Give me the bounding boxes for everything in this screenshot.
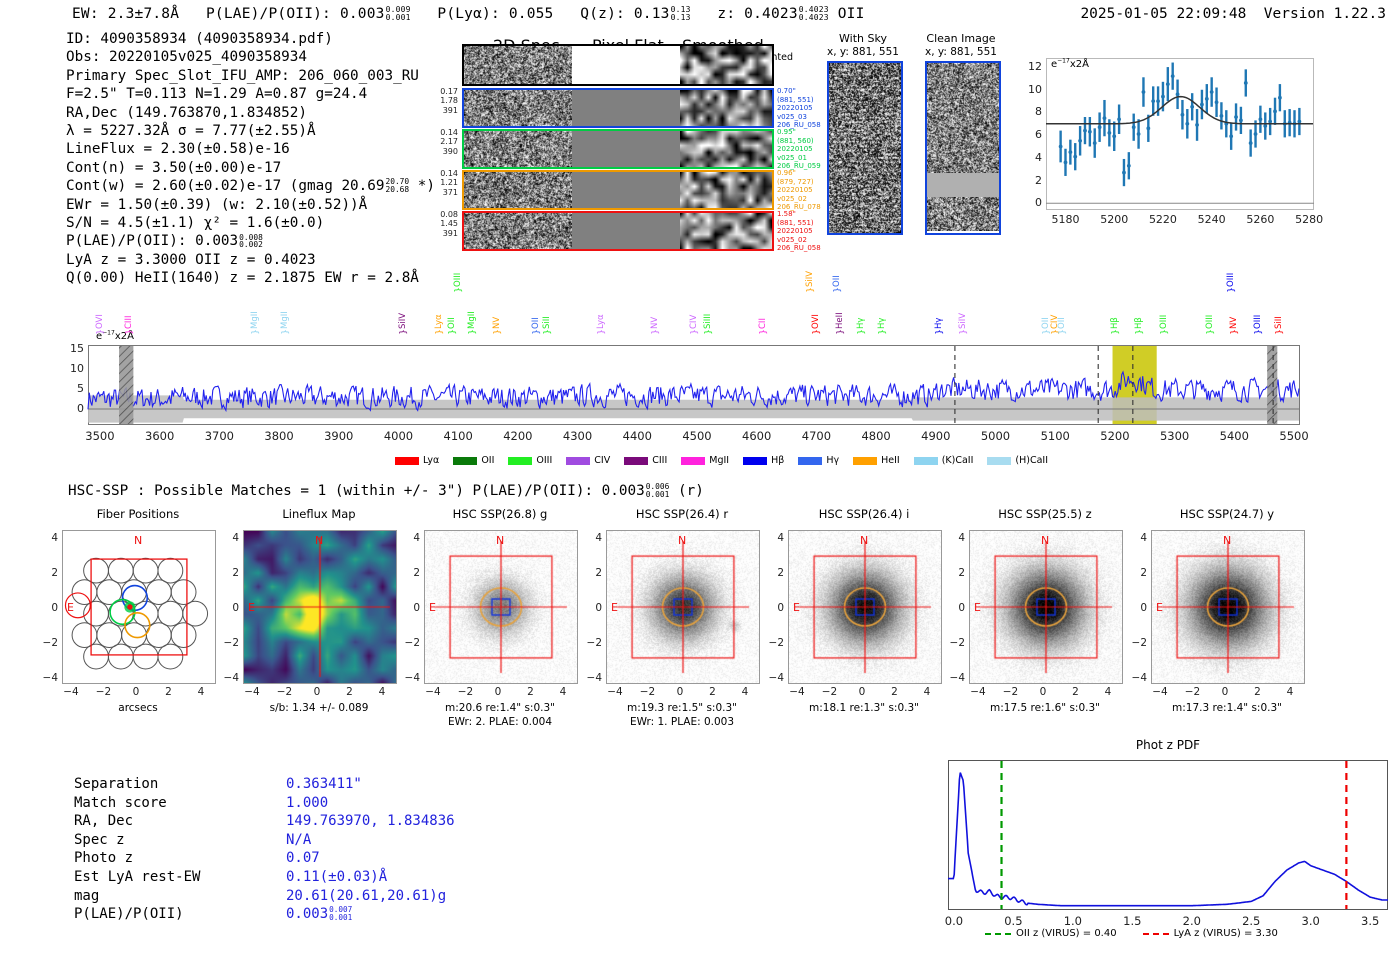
hsc-cutout-image — [425, 531, 577, 683]
full-spectrum-xtick: 3700 — [193, 429, 245, 443]
emission-line-brace: } — [1206, 329, 1216, 335]
full-spectrum-xtick: 5200 — [1089, 429, 1141, 443]
cutout-xtick: 0 — [123, 686, 149, 698]
pixelflat-image — [572, 90, 680, 126]
photz-xtick: 1.5 — [1112, 914, 1152, 928]
cutout-ytick: 2 — [584, 567, 602, 579]
match-table-key: Separation — [74, 775, 286, 794]
spec2d-row — [462, 170, 774, 210]
full-spectrum-frame — [88, 345, 1300, 425]
spec2d-left-value: 1.78 — [416, 96, 458, 105]
photz-legend: OII z (VIRUS) = 0.40LyA z (VIRUS) = 3.30 — [985, 928, 1278, 939]
cutout-ytick: 0 — [221, 602, 239, 614]
pixelflat-image — [572, 172, 680, 208]
cutout-caption-secondary: EWr: 2. PLAE: 0.004 — [412, 716, 588, 728]
cutout-ytick: 2 — [766, 567, 784, 579]
cutout-xtick: 4 — [732, 686, 758, 698]
spectrum-legend-item: MgII — [681, 455, 729, 466]
cutout-panel-frame — [1151, 530, 1305, 684]
spec2d-left-value: 1.45 — [416, 219, 458, 228]
emission-line-brace: } — [1160, 329, 1170, 335]
emission-line-brace: } — [651, 329, 661, 335]
spec2d-image — [464, 46, 572, 84]
compass-north-label: N — [860, 534, 868, 547]
cutout-xtick: −2 — [272, 686, 298, 698]
spec2d-left-value: 390 — [416, 147, 458, 156]
legend-swatch — [508, 457, 532, 465]
hscssp-header-text: HSC-SSP : Possible Matches = 1 (within +… — [68, 483, 645, 499]
cutout-ytick: 2 — [947, 567, 965, 579]
fiber-positions-diagram — [63, 531, 215, 683]
compass-east-label: E — [611, 601, 618, 614]
match-table-row: Match score1.000 — [74, 794, 455, 813]
emission-line-brace: } — [454, 287, 464, 293]
info-plae-label: P(LAE)/P(OII): 0.003 — [66, 233, 238, 249]
cutout-xtick: −2 — [635, 686, 661, 698]
cutout-ytick: −2 — [947, 637, 965, 649]
zoom-plot-xtick: 5260 — [1240, 213, 1280, 226]
spec2d-right-value: v025_02 — [777, 236, 837, 245]
cutout-xtick: 2 — [337, 686, 363, 698]
cutout-xtick: −2 — [817, 686, 843, 698]
cutout-caption-primary: m:19.3 re:1.5" s:0.3" — [594, 702, 770, 714]
cutout-xtick: 2 — [700, 686, 726, 698]
compass-north-label: N — [134, 534, 142, 547]
match-table-value: 0.003 — [286, 906, 328, 922]
info-line: Obs: 20220105v025_4090358934 — [66, 48, 435, 66]
spectrum-legend-item: (K)CaII — [914, 455, 974, 466]
cutout-xtick: −2 — [1180, 686, 1206, 698]
cutout-xtick: 0 — [1212, 686, 1238, 698]
header-plae-label: P(LAE)/P(OII): — [206, 6, 331, 22]
clean-image-top — [927, 63, 999, 173]
cutout-panel-frame — [606, 530, 760, 684]
full-spectrum-xtick: 4100 — [432, 429, 484, 443]
cutout-ytick: −2 — [40, 637, 58, 649]
spec2d-left-value: 2.17 — [416, 137, 458, 146]
emission-line-label: Hγ — [877, 287, 887, 329]
header-z: z: 0.4023 — [717, 6, 797, 22]
cutout-caption-primary: m:17.5 re:1.6" s:0.3" — [957, 702, 1133, 714]
legend-label: Hβ — [771, 455, 784, 466]
compass-north-label: N — [1041, 534, 1049, 547]
emission-line-brace: } — [759, 329, 769, 335]
zoom-plot-yunit-annotation: e−17x2Å — [1051, 59, 1089, 70]
emission-line-label: OII — [447, 287, 457, 329]
legend-label: MgII — [709, 455, 729, 466]
info-line: Primary Spec_Slot_IFU_AMP: 206_060_003_R… — [66, 67, 435, 85]
match-table-key: mag — [74, 887, 286, 906]
cutout-ytick: −4 — [221, 672, 239, 684]
compass-east-label: E — [974, 601, 981, 614]
header-plae-lo: 0.001 — [386, 13, 411, 22]
photz-legend-label: OII z (VIRUS) = 0.40 — [1016, 928, 1117, 939]
sky-cutout-image-frame — [925, 61, 1001, 235]
emission-line-label: OIII — [1226, 245, 1236, 287]
cutout-ytick: −4 — [402, 672, 420, 684]
compass-north-label: N — [678, 534, 686, 547]
cutout-xtick: 4 — [369, 686, 395, 698]
cutout-ytick: −4 — [1129, 672, 1147, 684]
legend-swatch — [624, 457, 648, 465]
photz-xtick: 3.0 — [1291, 914, 1331, 928]
emission-line-brace: } — [532, 329, 542, 335]
emission-line-brace: } — [435, 329, 445, 335]
cutout-panel-title: Fiber Positions — [62, 507, 214, 521]
emission-line-brace: } — [1275, 329, 1285, 335]
timestamp-version: 2025-01-05 22:09:48 Version 1.22.3 — [1080, 6, 1386, 22]
cutout-ytick: −2 — [402, 637, 420, 649]
emission-line-brace: } — [399, 329, 409, 335]
spec2d-left-value: 1.21 — [416, 178, 458, 187]
legend-swatch — [987, 457, 1011, 465]
full-spectrum-xtick: 5000 — [970, 429, 1022, 443]
photz-xtick: 1.0 — [1053, 914, 1093, 928]
spec2d-row — [462, 88, 774, 128]
photz-legend-label: LyA z (VIRUS) = 3.30 — [1174, 928, 1278, 939]
legend-swatch — [743, 457, 767, 465]
legend-swatch — [681, 457, 705, 465]
header-qz-lo: 0.13 — [671, 13, 691, 22]
full-spectrum-ytick: 5 — [62, 382, 84, 395]
match-table-row: Est LyA rest-EW0.11(±0.03)Å — [74, 868, 455, 887]
hsc-cutout-image — [607, 531, 759, 683]
cutout-ytick: 4 — [1129, 532, 1147, 544]
info-cont-w-lo: 20.68 — [385, 185, 409, 194]
cutout-ytick: 2 — [40, 567, 58, 579]
legend-label: CIV — [594, 455, 610, 466]
compass-east-label: E — [1156, 601, 1163, 614]
cutout-ytick: −4 — [947, 672, 965, 684]
photz-legend-item: OII z (VIRUS) = 0.40 — [985, 928, 1117, 939]
header-z-species: OII — [838, 6, 865, 22]
info-line: λ = 5227.32Å σ = 7.77(±2.55)Å — [66, 122, 435, 140]
cutout-ytick: 4 — [584, 532, 602, 544]
emission-line-label: SiIII — [703, 287, 713, 329]
photz-legend-item: LyA z (VIRUS) = 3.30 — [1143, 928, 1278, 939]
sky-panel-coords: x, y: 881, 551 — [813, 46, 913, 58]
legend-swatch — [566, 457, 590, 465]
zoom-plot-ytick: 12 — [1024, 60, 1042, 73]
cutout-panel-title: HSC SSP(26.4) r — [606, 507, 758, 521]
legend-label: CIII — [652, 455, 667, 466]
info-snr: S/N = 4.5(±1.1) χ² = 1.6(±0.0) — [66, 214, 435, 232]
clean-image-flat-region — [927, 173, 999, 197]
cutout-ytick: 0 — [584, 602, 602, 614]
cutout-xtick: 0 — [667, 686, 693, 698]
smoothed-image — [680, 46, 772, 84]
spec2d-row-left-labels: 0.171.78391 — [416, 87, 458, 115]
spec2d-weighted-row — [462, 44, 774, 86]
spec2d-image — [464, 172, 572, 208]
match-table-row: P(LAE)/P(OII)0.0030.0070.001 — [74, 905, 455, 924]
full-spectrum-xtick: 4200 — [492, 429, 544, 443]
spec2d-left-value: 391 — [416, 229, 458, 238]
cutout-xtick: 0 — [1030, 686, 1056, 698]
photz-title: Phot z PDF — [948, 738, 1388, 752]
sky-cutout-image-frame — [827, 61, 903, 235]
cutout-panel-title: HSC SSP(26.8) g — [424, 507, 576, 521]
emission-line-brace: } — [690, 329, 700, 335]
emission-line-label: OIII — [1159, 287, 1169, 329]
spec2d-left-value: 0.14 — [416, 128, 458, 137]
info-line: ID: 4090358934 (4090358934.pdf) — [66, 30, 435, 48]
zoom-plot-ytick: 2 — [1024, 174, 1042, 187]
photz-xtick: 3.5 — [1350, 914, 1390, 928]
cutout-ytick: 4 — [40, 532, 58, 544]
cutout-caption-primary: s/b: 1.34 +/- 0.089 — [231, 702, 407, 714]
emission-line-label: NV — [650, 287, 660, 329]
cutout-xtick: −2 — [453, 686, 479, 698]
emission-line-label: OVI — [95, 287, 105, 329]
info-plae: P(LAE)/P(OII): 0.0030.0080.002 — [66, 232, 435, 250]
emission-line-brace: } — [468, 329, 478, 335]
cutout-caption-secondary: EWr: 1. PLAE: 0.003 — [594, 716, 770, 728]
cutout-ytick: 2 — [1129, 567, 1147, 579]
cutout-xtick: −4 — [239, 686, 265, 698]
emission-line-label: CII — [758, 287, 768, 329]
legend-label: Hγ — [826, 455, 839, 466]
emission-line-label: OII — [1057, 287, 1067, 329]
zoom-plot-xtick: 5220 — [1143, 213, 1183, 226]
emission-line-label: SiII — [542, 287, 552, 329]
cutout-xtick: 0 — [485, 686, 511, 698]
cutout-ytick: −4 — [584, 672, 602, 684]
spectrum-legend-item: HeII — [853, 455, 900, 466]
emission-line-brace: } — [493, 329, 503, 335]
photz-xtick: 2.0 — [1172, 914, 1212, 928]
emission-line-label: Lyα — [596, 287, 606, 329]
with-sky-image — [829, 63, 901, 233]
emission-line-brace: } — [1135, 329, 1145, 335]
emission-line-brace: } — [251, 329, 261, 335]
spec2d-left-value: 0.14 — [416, 169, 458, 178]
full-spectrum-xtick: 4300 — [552, 429, 604, 443]
emission-line-label: SiIV — [398, 287, 408, 329]
emission-line-label: Hγ — [856, 287, 866, 329]
spec2d-row-left-labels: 0.081.45391 — [416, 210, 458, 238]
cutout-ytick: −2 — [221, 637, 239, 649]
cutout-ytick: 4 — [402, 532, 420, 544]
legend-swatch — [395, 457, 419, 465]
cutout-xtick: 2 — [1063, 686, 1089, 698]
emission-line-label: NV — [492, 287, 502, 329]
zoom-plot-xtick: 5200 — [1094, 213, 1134, 226]
cutout-xtick: 4 — [1095, 686, 1121, 698]
full-spectrum-xtick: 4700 — [790, 429, 842, 443]
hsc-cutout-image — [1152, 531, 1304, 683]
match-table-row: RA, Dec149.763970, 1.834836 — [74, 812, 455, 831]
compass-north-label: N — [496, 534, 504, 547]
spectrum-legend-item: Lyα — [395, 455, 439, 466]
header-z-lo: 0.4023 — [799, 13, 829, 22]
emission-line-brace: } — [448, 329, 458, 335]
pixelflat-image — [572, 46, 680, 84]
cutout-xtick: 4 — [188, 686, 214, 698]
lineflux-map-image — [244, 531, 396, 683]
emission-line-label: OIII — [1253, 287, 1263, 329]
emission-line-label: CIV — [689, 287, 699, 329]
legend-swatch — [914, 457, 938, 465]
timestamp: 2025-01-05 22:09:48 — [1080, 6, 1246, 22]
emission-line-brace: } — [704, 329, 714, 335]
spec2d-image — [464, 213, 572, 249]
spec2d-row — [462, 129, 774, 169]
full-spectrum-ytick: 15 — [62, 342, 84, 355]
cutout-ytick: 4 — [766, 532, 784, 544]
zoom-plot-xtick: 5180 — [1045, 213, 1085, 226]
zoom-plot-ytick: 6 — [1024, 128, 1042, 141]
source-info-block: ID: 4090358934 (4090358934.pdf) Obs: 202… — [66, 30, 435, 288]
emission-line-label: HeII — [835, 287, 845, 329]
emission-line-label: SiIV — [958, 287, 968, 329]
legend-label: HeII — [881, 455, 900, 466]
cutout-xtick: 4 — [1277, 686, 1303, 698]
emission-line-brace: } — [1111, 329, 1121, 335]
full-spectrum-xtick: 3600 — [134, 429, 186, 443]
match-table-row: mag20.61(20.61,20.61)g — [74, 887, 455, 906]
emission-line-label: Lyα — [434, 287, 444, 329]
full-spectrum-ytick: 0 — [62, 402, 84, 415]
hscssp-header: HSC-SSP : Possible Matches = 1 (within +… — [68, 483, 704, 499]
full-spectrum-xtick: 4900 — [910, 429, 962, 443]
match-table-row: Spec zN/A — [74, 831, 455, 850]
smoothed-image — [680, 172, 772, 208]
zoom-plot-xtick: 5280 — [1289, 213, 1329, 226]
info-cont-w-text: Cont(w) = 2.60(±0.02)e-17 (gmag 20.69 — [66, 178, 384, 194]
match-table-value: 0.363411" — [286, 776, 362, 792]
smoothed-image — [680, 213, 772, 249]
emission-line-brace: } — [597, 329, 607, 335]
info-ewr: EWr = 1.50(±0.39) (w: 2.10(±0.52))Å — [66, 196, 435, 214]
cutout-ytick: −4 — [40, 672, 58, 684]
full-spectrum-xtick: 4500 — [671, 429, 723, 443]
full-spectrum-xtick: 5100 — [1029, 429, 1081, 443]
compass-north-label: N — [315, 534, 323, 547]
info-line: Cont(n) = 3.50(±0.00)e-17 — [66, 159, 435, 177]
emission-line-label: MgII — [467, 287, 477, 329]
spectrum-legend-item: CIII — [624, 455, 667, 466]
full-spectrum-xtick: 5500 — [1268, 429, 1320, 443]
match-table: Separation0.363411"Match score1.000RA, D… — [74, 775, 455, 924]
match-table-key: Photo z — [74, 849, 286, 868]
compass-east-label: E — [429, 601, 436, 614]
info-line: RA,Dec (149.763870,1.834852) — [66, 104, 435, 122]
cutout-xtick: −4 — [58, 686, 84, 698]
emission-line-brace: } — [281, 329, 291, 335]
version: Version 1.22.3 — [1264, 6, 1386, 22]
compass-east-label: E — [793, 601, 800, 614]
emission-line-label: OIII — [453, 245, 463, 287]
emission-line-brace: } — [1254, 329, 1264, 335]
cutout-ytick: −4 — [766, 672, 784, 684]
emission-line-label: OII — [531, 287, 541, 329]
cutout-caption-primary: arcsecs — [50, 702, 226, 714]
cutout-panel-frame — [969, 530, 1123, 684]
legend-label: OII — [481, 455, 494, 466]
photz-legend-dash — [1143, 933, 1169, 935]
photz-xtick: 2.5 — [1231, 914, 1271, 928]
pixelflat-image — [572, 213, 680, 249]
full-spectrum-xtick: 3900 — [313, 429, 365, 443]
cutout-ytick: 0 — [402, 602, 420, 614]
match-table-key: RA, Dec — [74, 812, 286, 831]
cutout-ytick: 0 — [766, 602, 784, 614]
hscssp-header-lo: 0.001 — [646, 490, 670, 499]
match-table-key: Spec z — [74, 831, 286, 850]
spectrum-legend-item: CIV — [566, 455, 610, 466]
emission-line-label: Hβ — [1110, 287, 1120, 329]
spec2d-left-value: 0.17 — [416, 87, 458, 96]
spectrum-legend-item: Hβ — [743, 455, 784, 466]
match-table-row: Separation0.363411" — [74, 775, 455, 794]
cutout-xtick: 2 — [1245, 686, 1271, 698]
emission-line-label: MgII — [280, 287, 290, 329]
spec2d-row — [462, 211, 774, 251]
spec2d-left-value: 371 — [416, 188, 458, 197]
emission-line-brace: } — [836, 329, 846, 335]
info-redshifts: LyA z = 3.3000 OII z = 0.4023 — [66, 251, 435, 269]
cutout-xtick: −4 — [1147, 686, 1173, 698]
cutout-xtick: −4 — [784, 686, 810, 698]
photz-xtick: 0.0 — [934, 914, 974, 928]
emission-line-label: OIII — [1205, 287, 1215, 329]
info-cont-w: Cont(w) = 2.60(±0.02)e-17 (gmag 20.6920.… — [66, 177, 435, 195]
emission-line-label: Hβ — [1134, 287, 1144, 329]
cutout-panel-frame — [788, 530, 942, 684]
cutout-panel-title: HSC SSP(24.7) y — [1151, 507, 1303, 521]
cutout-ytick: 4 — [221, 532, 239, 544]
legend-swatch — [453, 457, 477, 465]
match-table-value: 1.000 — [286, 795, 328, 811]
emission-line-brace: } — [125, 329, 135, 335]
smoothed-image — [680, 131, 772, 167]
cutout-caption-primary: m:20.6 re:1.4" s:0.3" — [412, 702, 588, 714]
emission-line-label: SiIV — [805, 245, 815, 287]
cutout-xtick: −4 — [965, 686, 991, 698]
zoom-plot-frame — [1046, 58, 1314, 210]
info-heii: Q(0.00) HeII(1640) z = 2.1875 EW r = 2.8… — [66, 269, 435, 287]
spectrum-legend-item: (H)CaII — [987, 455, 1048, 466]
cutout-ytick: 0 — [40, 602, 58, 614]
emission-line-label: MgII — [250, 287, 260, 329]
cutout-panel-title: HSC SSP(25.5) z — [969, 507, 1121, 521]
clean-image-bottom — [927, 197, 999, 231]
spec2d-row-left-labels: 0.142.17390 — [416, 128, 458, 156]
spec2d-image — [464, 90, 572, 126]
cutout-xtick: −2 — [998, 686, 1024, 698]
header-plae-value: 0.003 — [340, 6, 385, 22]
cutout-ytick: 0 — [947, 602, 965, 614]
match-table-key: Est LyA rest-EW — [74, 868, 286, 887]
compass-east-label: E — [248, 601, 255, 614]
cutout-xtick: 0 — [304, 686, 330, 698]
legend-swatch — [853, 457, 877, 465]
zoom-plot-xtick: 5240 — [1192, 213, 1232, 226]
cutout-panel-frame — [243, 530, 397, 684]
sky-panel-title: Clean Image — [925, 32, 997, 45]
emission-line-label: OII — [832, 245, 842, 287]
full-spectrum-xtick: 5400 — [1208, 429, 1260, 443]
cutout-xtick: 4 — [550, 686, 576, 698]
spec2d-left-value: 0.08 — [416, 210, 458, 219]
full-spectrum-ytick: 10 — [62, 362, 84, 375]
emission-line-brace: } — [878, 329, 888, 335]
legend-label: OIII — [536, 455, 552, 466]
compass-north-label: N — [1223, 534, 1231, 547]
legend-label: (H)CaII — [1015, 455, 1048, 466]
spectrum-legend-item: Hγ — [798, 455, 839, 466]
